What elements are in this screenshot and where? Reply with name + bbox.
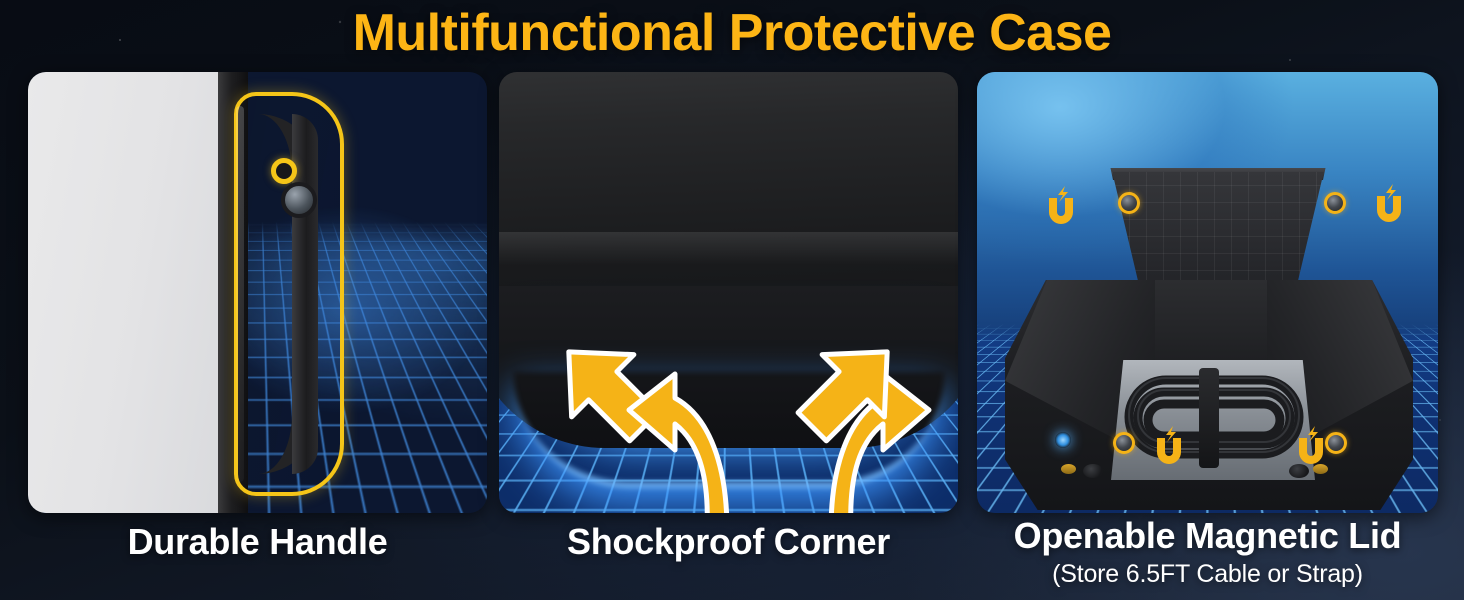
cable-strap [1199, 368, 1219, 468]
brass-screw-left-icon [1061, 464, 1076, 474]
caption-magnetic-lid-subtext: (Store 6.5FT Cable or Strap) [977, 559, 1438, 589]
handle-highlight [236, 106, 244, 482]
magnet-icon-top-right [1367, 182, 1411, 228]
caption-durable-handle: Durable Handle [28, 521, 487, 563]
impact-arrow-up-right-icon [789, 330, 909, 450]
caption-durable-handle-text: Durable Handle [128, 521, 388, 562]
magnet-icon-bottom-left [1147, 424, 1191, 470]
caption-magnetic-lid-text: Openable Magnetic Lid [1014, 515, 1402, 556]
page-title: Multifunctional Protective Case [0, 2, 1464, 64]
feature-panel-durable-handle [28, 72, 487, 513]
caption-magnetic-lid: Openable Magnetic Lid (Store 6.5FT Cable… [977, 515, 1438, 589]
caption-shockproof-corner-text: Shockproof Corner [567, 521, 890, 562]
infographic-stage: Multifunctional Protective Case [0, 0, 1464, 600]
magnet-contact-pad-top-right [1324, 192, 1346, 214]
feature-panel-shockproof-corner [499, 72, 958, 513]
mount-hole-left [1083, 464, 1103, 478]
impact-arrow-curve-left-icon [623, 372, 733, 513]
feature-panel-magnetic-lid [977, 72, 1438, 513]
magnet-contact-pad-bottom-left [1113, 432, 1135, 454]
yellow-ring-port-top-icon [271, 158, 297, 184]
magnet-contact-pad-top-left [1118, 192, 1140, 214]
metal-latch-port-top-icon [281, 182, 317, 218]
magnet-icon-bottom-right [1289, 424, 1333, 470]
status-led-indicator [1055, 432, 1071, 448]
case-body-shell [28, 72, 224, 513]
caption-shockproof-corner: Shockproof Corner [499, 521, 958, 563]
magnet-icon-top-left [1039, 184, 1083, 230]
